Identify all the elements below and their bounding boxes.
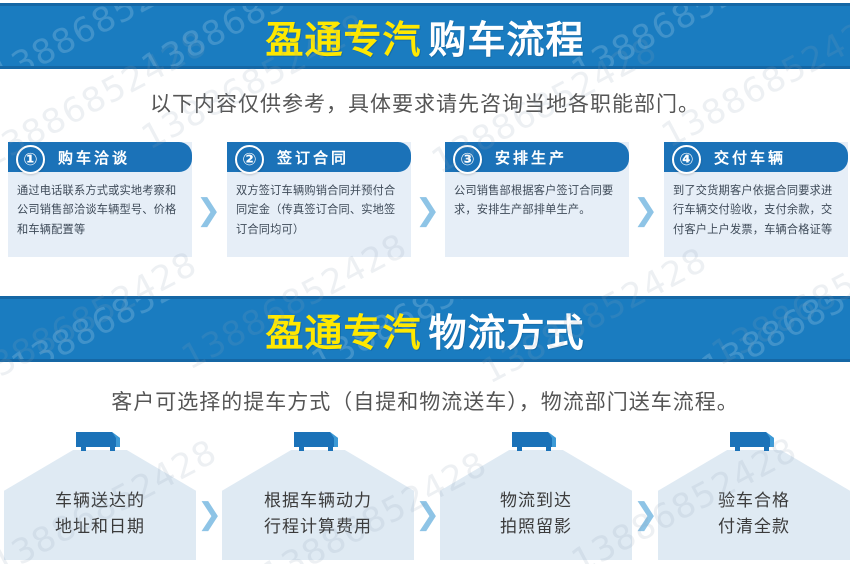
logistics-card-text: 物流到达 拍照留影	[440, 488, 632, 541]
watermark-text: 13886852428	[565, 3, 804, 69]
chevron-right-icon: ❯	[196, 196, 221, 226]
step-body-text: 公司销售部根据客户签订合同要求，安排生产部排单生产。	[445, 172, 629, 220]
banner-purchase-process: 13886852428 13886852428 13886852428 盈通专汽…	[0, 3, 850, 69]
step-header: ④ 交付车辆	[664, 142, 848, 172]
step-title: 安排生产	[495, 147, 567, 168]
step-title: 购车洽谈	[58, 147, 130, 168]
banner-title-text: 购车流程	[429, 9, 585, 64]
truck-icon	[726, 428, 782, 456]
step-number-badge: ④	[672, 145, 701, 174]
purchase-process-subtitle: 以下内容仅供参考，具体要求请先咨询当地各职能部门。	[0, 88, 850, 118]
banner-brand-text: 盈通专汽	[265, 302, 421, 357]
step-card-1: ① 购车洽谈 通过电话联系方式或实地考察和公司销售部洽谈车辆型号、价格和车辆配置…	[8, 142, 192, 257]
logistics-card-text: 车辆送达的 地址和日期	[4, 488, 196, 541]
chevron-right-icon: ❯	[633, 196, 658, 226]
step-number-badge: ①	[16, 145, 45, 174]
logistics-card-text: 验车合格 付清全款	[658, 488, 850, 541]
banner-title-text: 物流方式	[429, 302, 585, 357]
logistics-card-line2: 地址和日期	[4, 514, 196, 540]
logistics-card-line1: 根据车辆动力	[222, 488, 414, 514]
step-body-text: 到了交货期客户依据合同要求进行车辆交付验收，支付余款，交付客户上户发票，车辆合格…	[664, 172, 848, 239]
banner-logistics: 13886852428 13886852428 13886852428 盈通专汽…	[0, 296, 850, 362]
logistics-card-line1: 物流到达	[440, 488, 632, 514]
logistics-card-line2: 付清全款	[658, 514, 850, 540]
logistics-card-2: 根据车辆动力 行程计算费用	[222, 428, 414, 560]
step-number-badge: ③	[453, 145, 482, 174]
step-header: ③ 安排生产	[445, 142, 629, 172]
step-card-3: ③ 安排生产 公司销售部根据客户签订合同要求，安排生产部排单生产。	[445, 142, 629, 257]
chevron-right-icon: ❯	[415, 196, 440, 226]
truck-icon	[72, 428, 128, 456]
chevron-right-icon: ❯	[197, 500, 222, 530]
watermark-text: 13886852428	[695, 296, 850, 362]
chevron-right-icon: ❯	[633, 500, 658, 530]
logistics-card-line2: 拍照留影	[440, 514, 632, 540]
logistics-subtitle: 客户可选择的提车方式（自提和物流送车），物流部门送车流程。	[0, 386, 850, 416]
promo-page: 13886852428 13886852428 13886852428 盈通专汽…	[0, 0, 850, 564]
truck-icon	[290, 428, 346, 456]
logistics-card-3: 物流到达 拍照留影	[440, 428, 632, 560]
watermark-text: 13886852428	[5, 296, 244, 362]
chevron-right-icon: ❯	[415, 500, 440, 530]
logistics-card-line1: 验车合格	[658, 488, 850, 514]
step-card-2: ② 签订合同 双方签订车辆购销合同并预付合同定金（传真签订合同、实地签订合同均可…	[227, 142, 411, 257]
logistics-card-4: 验车合格 付清全款	[658, 428, 850, 560]
step-card-4: ④ 交付车辆 到了交货期客户依据合同要求进行车辆交付验收，支付余款，交付客户上户…	[664, 142, 848, 257]
truck-icon	[508, 428, 564, 456]
logistics-card-text: 根据车辆动力 行程计算费用	[222, 488, 414, 541]
step-header: ② 签订合同	[227, 142, 411, 172]
banner-brand-text: 盈通专汽	[265, 9, 421, 64]
step-title: 交付车辆	[714, 147, 786, 168]
logistics-card-line2: 行程计算费用	[222, 514, 414, 540]
step-body-text: 通过电话联系方式或实地考察和公司销售部洽谈车辆型号、价格和车辆配置等	[8, 172, 192, 239]
step-title: 签订合同	[277, 147, 349, 168]
logistics-card-line1: 车辆送达的	[4, 488, 196, 514]
step-body-text: 双方签订车辆购销合同并预付合同定金（传真签订合同、实地签订合同均可）	[227, 172, 411, 239]
logistics-cards-row: 车辆送达的 地址和日期 根据车辆动力 行程计算费用	[0, 428, 850, 564]
step-number-badge: ②	[235, 145, 264, 174]
step-header: ① 购车洽谈	[8, 142, 192, 172]
logistics-card-1: 车辆送达的 地址和日期	[4, 428, 196, 560]
